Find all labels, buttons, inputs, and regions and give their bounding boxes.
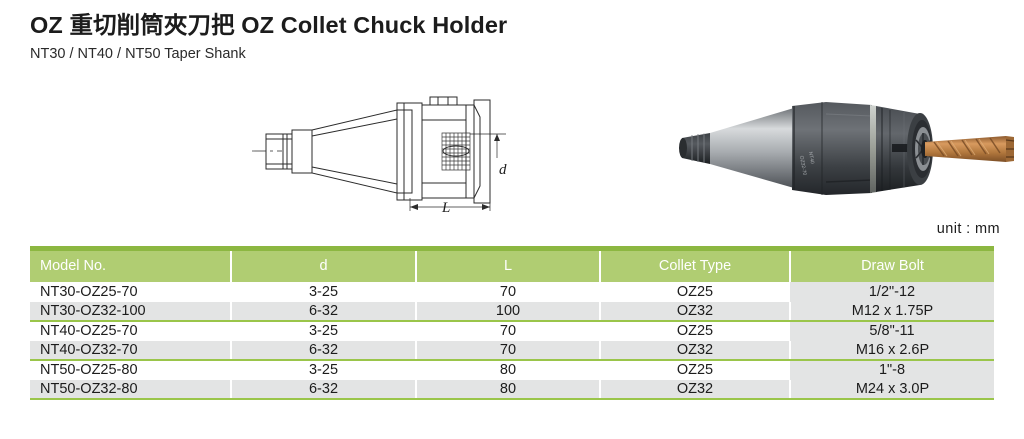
cell-model: NT40-OZ25-70	[30, 321, 231, 341]
table-body: NT30-OZ25-70 3-25 70 OZ25 1/2"-12 NT30-O…	[30, 282, 994, 399]
dimension-label-L: L	[441, 200, 450, 216]
dimension-label-d: d	[499, 162, 507, 178]
product-spec-sheet: OZ 重切削筒夾刀把 OZ Collet Chuck Holder NT30 /…	[0, 0, 1024, 439]
cell-collet-type: OZ32	[600, 380, 790, 400]
cell-model: NT30-OZ32-100	[30, 302, 231, 322]
cell-l: 70	[416, 321, 600, 341]
cell-model: NT40-OZ32-70	[30, 341, 231, 361]
cell-collet-type: OZ25	[600, 282, 790, 302]
cell-model: NT50-OZ32-80	[30, 380, 231, 400]
page-title: OZ 重切削筒夾刀把 OZ Collet Chuck Holder	[30, 10, 507, 40]
column-header-d: d	[231, 251, 416, 282]
cell-d: 3-25	[231, 360, 416, 380]
column-header-l: L	[416, 251, 600, 282]
collet-chuck-product-photo: OZ32-70 NT40	[676, 92, 1016, 219]
table-header-row: Model No. d L Collet Type Draw Bolt	[30, 251, 994, 282]
cell-draw-bolt: M24 x 3.0P	[790, 380, 994, 400]
cell-model: NT50-OZ25-80	[30, 360, 231, 380]
table-row: NT40-OZ25-70 3-25 70 OZ25 5/8"-11	[30, 321, 994, 341]
title-block: OZ 重切削筒夾刀把 OZ Collet Chuck Holder NT30 /…	[30, 10, 507, 64]
cell-l: 70	[416, 282, 600, 302]
table-row: NT50-OZ25-80 3-25 80 OZ25 1"-8	[30, 360, 994, 380]
cell-d: 6-32	[231, 380, 416, 400]
cell-collet-type: OZ25	[600, 360, 790, 380]
table-row: NT40-OZ32-70 6-32 70 OZ32 M16 x 2.6P	[30, 341, 994, 361]
cell-draw-bolt: 1/2"-12	[790, 282, 994, 302]
column-header-draw-bolt: Draw Bolt	[790, 251, 994, 282]
cell-l: 80	[416, 380, 600, 400]
column-header-collet-type: Collet Type	[600, 251, 790, 282]
page-subtitle: NT30 / NT40 / NT50 Taper Shank	[30, 45, 507, 64]
table-row: NT30-OZ32-100 6-32 100 OZ32 M12 x 1.75P	[30, 302, 994, 322]
cell-collet-type: OZ25	[600, 321, 790, 341]
cell-model: NT30-OZ25-70	[30, 282, 231, 302]
cell-l: 70	[416, 341, 600, 361]
cell-draw-bolt: 1"-8	[790, 360, 994, 380]
unit-note: unit : mm	[937, 221, 1000, 237]
cell-collet-type: OZ32	[600, 341, 790, 361]
specification-table: Model No. d L Collet Type Draw Bolt NT30…	[30, 246, 994, 400]
cell-draw-bolt: 5/8"-11	[790, 321, 994, 341]
table-row: NT30-OZ25-70 3-25 70 OZ25 1/2"-12	[30, 282, 994, 302]
collet-chuck-cross-section-drawing: d L	[252, 86, 542, 223]
cell-d: 6-32	[231, 302, 416, 322]
column-header-model: Model No.	[30, 251, 231, 282]
cell-d: 6-32	[231, 341, 416, 361]
cell-draw-bolt: M12 x 1.75P	[790, 302, 994, 322]
cell-collet-type: OZ32	[600, 302, 790, 322]
cell-draw-bolt: M16 x 2.6P	[790, 341, 994, 361]
cell-d: 3-25	[231, 282, 416, 302]
cell-d: 3-25	[231, 321, 416, 341]
cell-l: 80	[416, 360, 600, 380]
cell-l: 100	[416, 302, 600, 322]
table-row: NT50-OZ32-80 6-32 80 OZ32 M24 x 3.0P	[30, 380, 994, 400]
